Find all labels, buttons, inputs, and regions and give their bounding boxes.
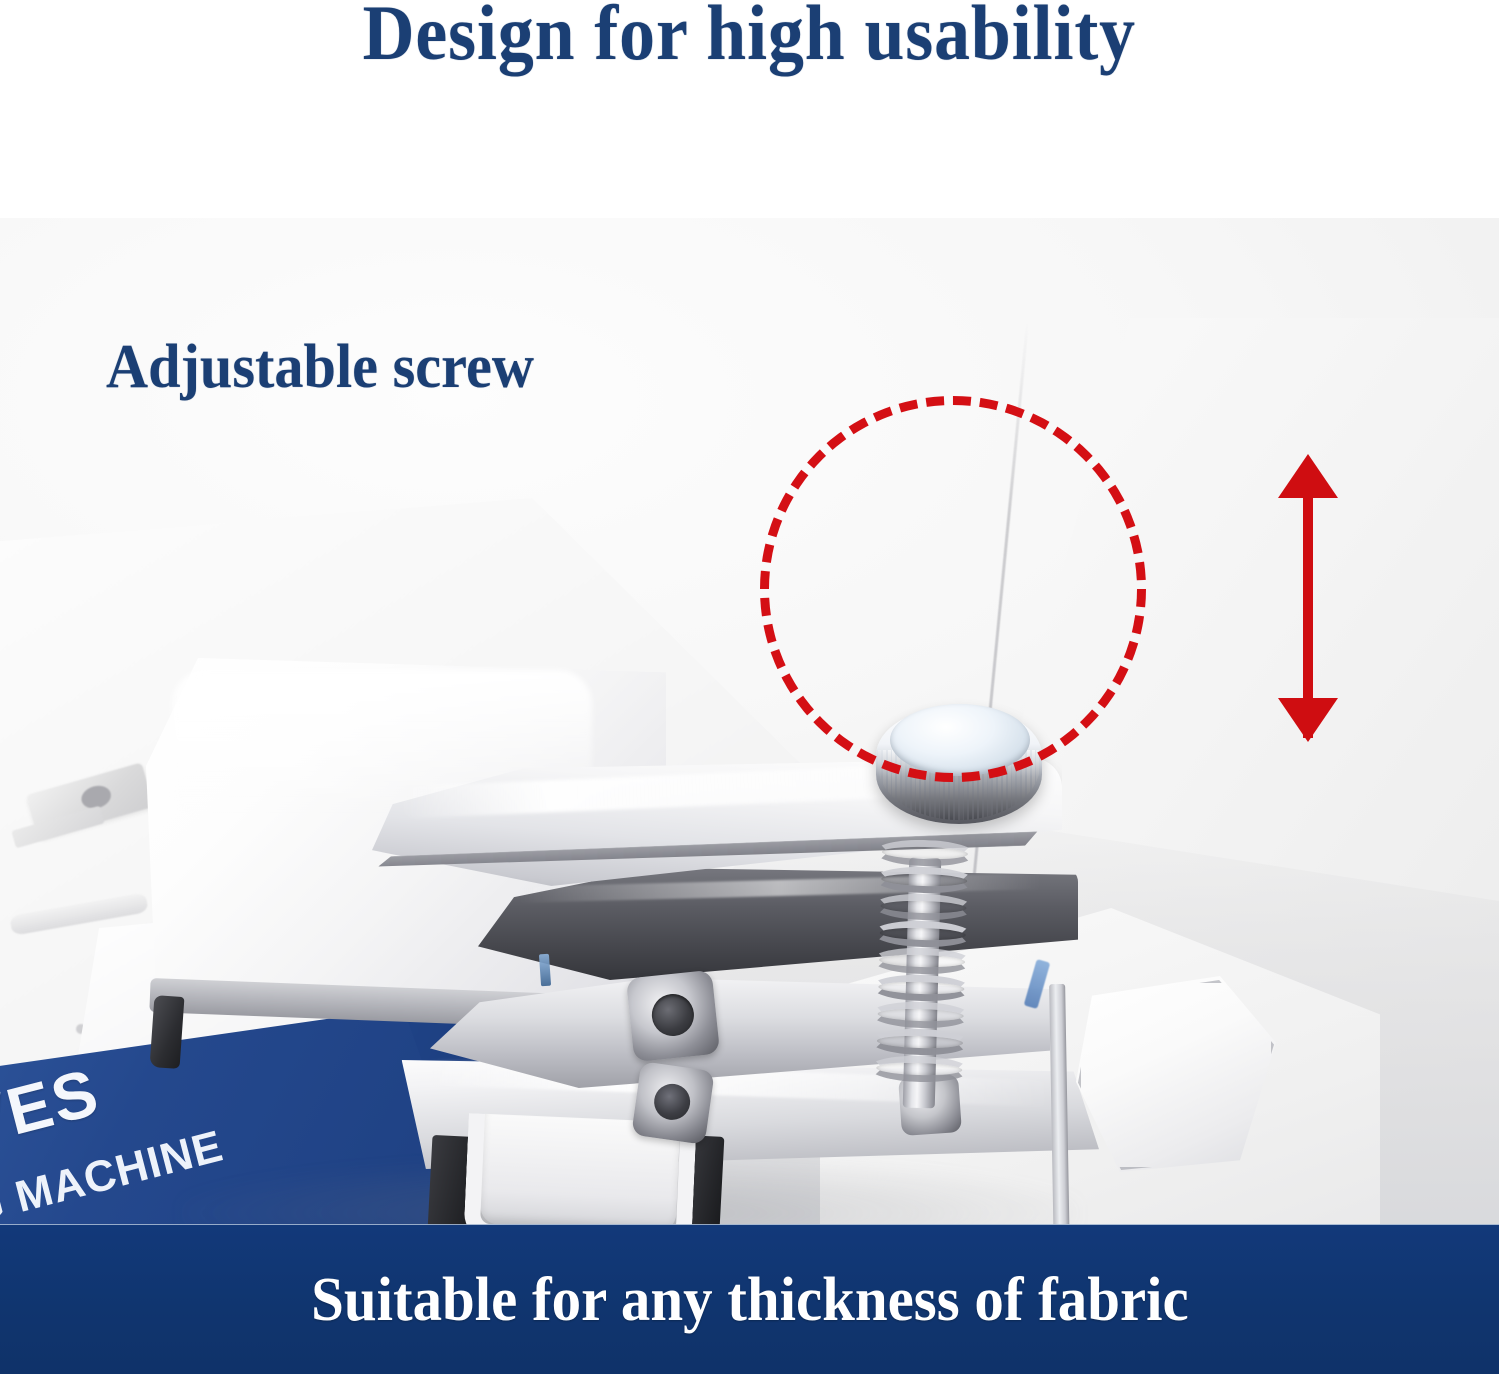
hex-nut-lower [631,1061,715,1145]
product-feature-infographic: Design for high usability CH NIVES WING … [0,0,1499,1374]
footer-banner: Suitable for any thickness of fabric [0,1225,1499,1374]
page-title: Design for high usability [363,0,1136,72]
magnetic-seam-guide [0,218,1499,1225]
compression-spring [869,839,975,1090]
hex-nut-upper [626,970,720,1063]
device-left-foot [150,995,185,1069]
footer-tagline: Suitable for any thickness of fabric [311,1269,1189,1331]
headline-band: Design for high usability [0,0,1499,218]
blue-screw-detail [539,954,551,987]
product-photo: CH NIVES WING MACHINE ST [0,218,1499,1225]
thumbscrew-cap [890,704,1030,776]
